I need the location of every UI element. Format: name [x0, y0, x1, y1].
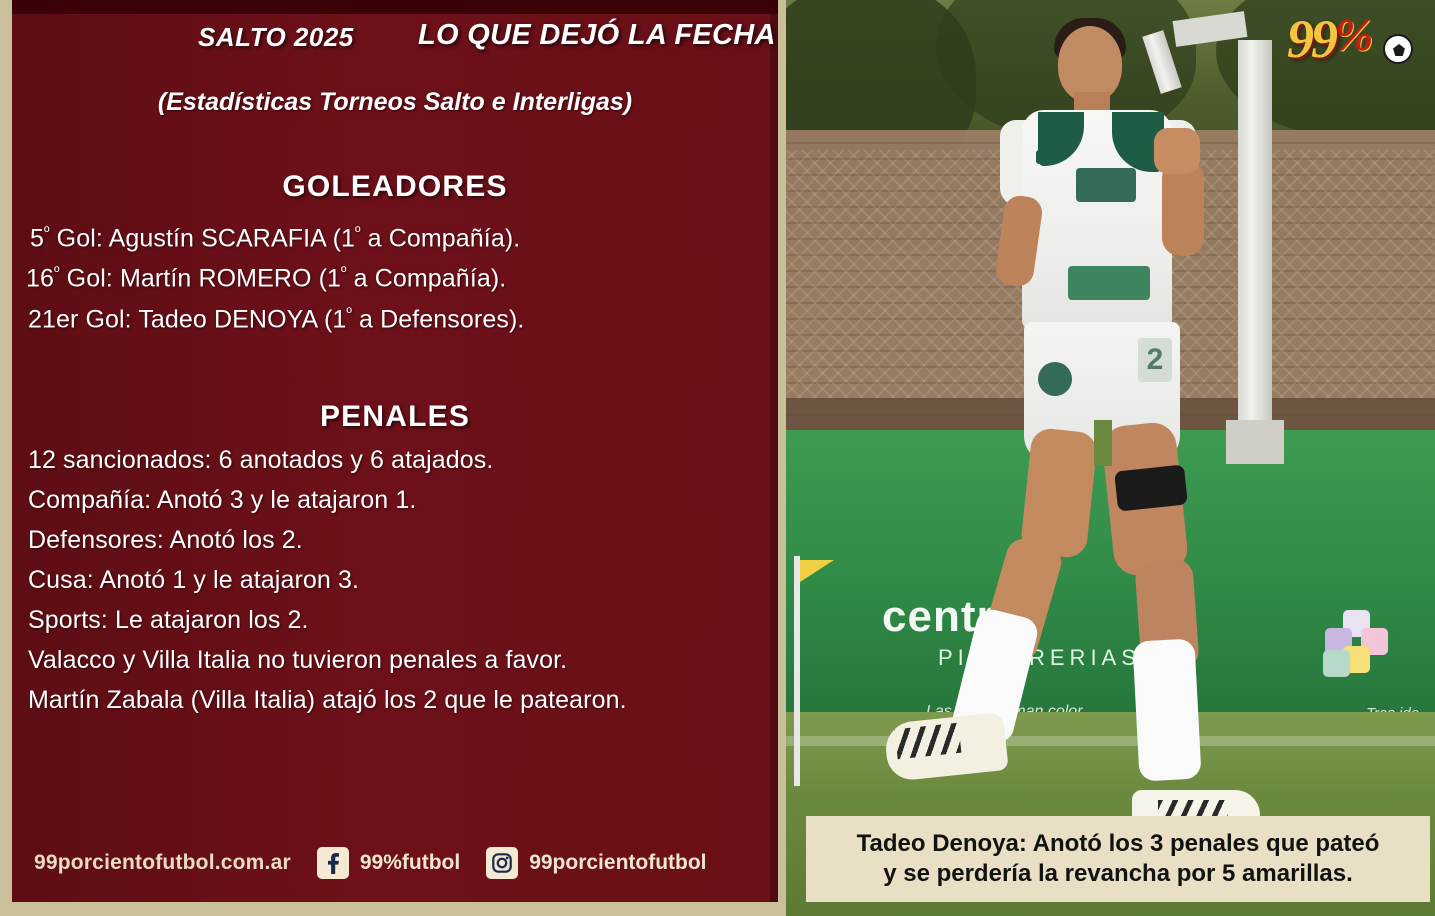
instagram-link[interactable]: 99porcientofutbol: [486, 847, 706, 879]
goleadores-list: 5º Gol: Agustín SCARAFIA (1º a Compañía)…: [38, 224, 534, 345]
facebook-link[interactable]: 99%futbol: [317, 847, 460, 879]
player-knee-sleeve: [1114, 464, 1188, 511]
jersey-chest-sponsor: [1076, 168, 1136, 202]
facebook-handle: 99%futbol: [360, 851, 460, 875]
list-item: 12 sancionados: 6 anotados y 6 atajados.: [28, 446, 627, 475]
caption-line-1: Tadeo Denoya: Anotó los 3 penales que pa…: [857, 829, 1380, 859]
list-item: Martín Zabala (Villa Italia) atajó los 2…: [28, 686, 627, 715]
shorts-gap: [1094, 420, 1112, 466]
list-item: 16º Gol: Martín ROMERO (1º a Compañía).: [26, 264, 522, 293]
player-head: [1058, 26, 1122, 102]
section-heading-goleadores: GOLEADORES: [12, 170, 778, 204]
instagram-handle: 99porcientofutbol: [529, 851, 706, 875]
player-photo: centro PINTURERIAS Las ideas toman color…: [786, 0, 1435, 916]
header: SALTO 2025 LO QUE DEJÓ LA FECHA: [12, 22, 778, 60]
player-right-arm: [1162, 160, 1204, 256]
logo-percent: %: [1335, 8, 1373, 61]
shorts-number: 2: [1138, 338, 1172, 382]
player-figure: 2: [786, 0, 1435, 916]
poster-root: SALTO 2025 LO QUE DEJÓ LA FECHA (Estadís…: [0, 0, 1435, 916]
caption-line-2: y se perdería la revancha por 5 amarilla…: [883, 859, 1353, 889]
soccer-ball-icon: [1383, 34, 1413, 64]
panel-right-edge: [770, 14, 778, 902]
brand-logo: 99 %: [1279, 8, 1415, 74]
section-heading-penales: PENALES: [12, 400, 778, 434]
list-item: Defensores: Anotó los 2.: [28, 526, 627, 555]
player-right-fist: [1154, 128, 1200, 174]
list-item: Compañía: Anotó 3 y le atajaron 1.: [28, 486, 627, 515]
list-item: Sports: Le atajaron los 2.: [28, 606, 627, 635]
photo-caption: Tadeo Denoya: Anotó los 3 penales que pa…: [806, 816, 1430, 902]
list-item: Valacco y Villa Italia no tuvieron penal…: [28, 646, 627, 675]
penales-list: 12 sancionados: 6 anotados y 6 atajados.…: [28, 446, 627, 726]
instagram-icon: [486, 847, 518, 879]
list-item: 5º Gol: Agustín SCARAFIA (1º a Compañía)…: [30, 224, 526, 253]
shorts-club-badge: [1038, 362, 1072, 396]
jersey-brand-badge: [1036, 150, 1058, 164]
season-tag: SALTO 2025: [198, 22, 354, 53]
page-title: LO QUE DEJÓ LA FECHA: [418, 19, 776, 52]
player-left-thigh: [1020, 427, 1099, 559]
list-item: 21er Gol: Tadeo DENOYA (1º a Defensores)…: [28, 305, 524, 334]
jersey-lower-sponsor: [1068, 266, 1150, 300]
panel-top-stripe: [12, 0, 778, 14]
subtitle: (Estadísticas Torneos Salto e Interligas…: [12, 88, 778, 117]
footer: 99porcientofutbol.com.ar 99%futbol 99por…: [12, 842, 778, 884]
player-right-sock: [1132, 638, 1201, 781]
website-label: 99porcientofutbol.com.ar: [34, 851, 291, 875]
facebook-icon: [317, 847, 349, 879]
list-item: Cusa: Anotó 1 y le atajaron 3.: [28, 566, 627, 595]
logo-digits: 99: [1287, 8, 1335, 70]
